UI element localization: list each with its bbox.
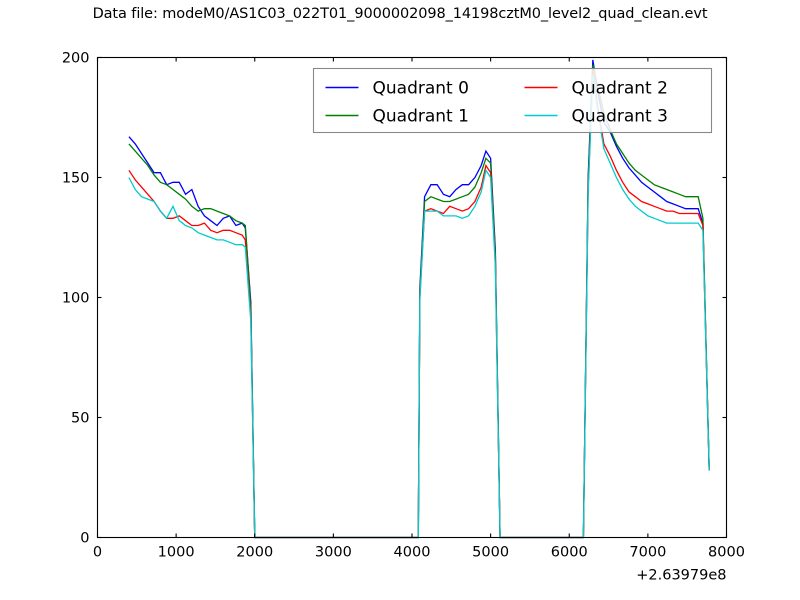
legend-label-0[interactable]: Quadrant 0 [373,79,469,99]
x-tick-label: 5000 [472,545,509,561]
y-tick-label: 150 [62,171,90,187]
y-tick-label: 0 [80,531,89,547]
x-tick-label: 8000 [708,545,745,561]
series-line-3 [129,74,709,537]
legend-label-1[interactable]: Quadrant 1 [373,107,469,127]
y-tick-label: 100 [62,291,90,307]
figure-canvas: Data file: modeM0/AS1C03_022T01_90000020… [0,0,800,600]
x-tick-label: 2000 [236,545,273,561]
legend-label-3[interactable]: Quadrant 3 [572,107,668,127]
y-tick-label: 50 [71,411,89,427]
x-tick-label: 0 [93,545,102,561]
y-tick-label: 200 [62,51,90,67]
x-axis-offset-label: +2.63979e8 [636,568,726,584]
legend-label-2[interactable]: Quadrant 2 [572,79,668,99]
x-tick-label: 1000 [158,545,195,561]
x-tick-label: 7000 [629,545,666,561]
x-tick-label: 6000 [551,545,588,561]
legend-group[interactable]: Quadrant 0Quadrant 1Quadrant 2Quadrant 3 [314,69,712,133]
x-tick-label: 4000 [394,545,431,561]
x-tick-label: 3000 [315,545,352,561]
plot-area: 0100020003000400050006000700080000501001… [0,0,800,600]
